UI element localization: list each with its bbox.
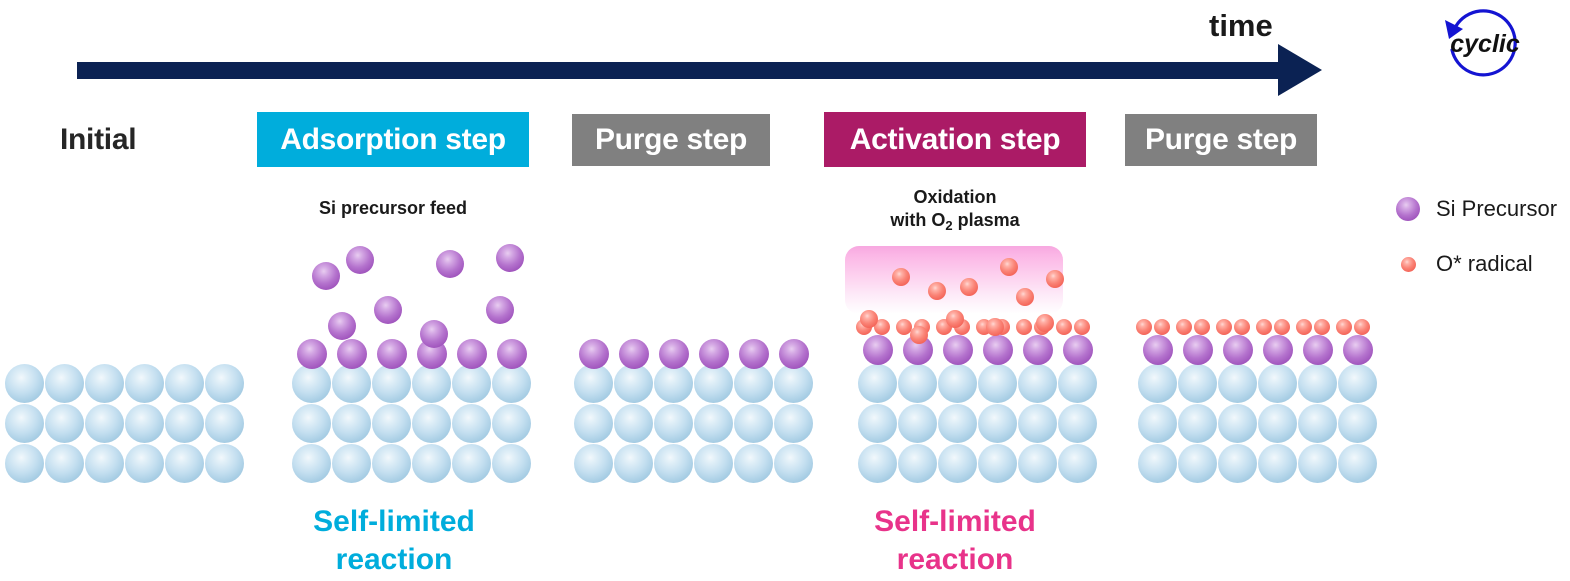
substrate-atom-purge-2 <box>1258 444 1297 483</box>
substrate-atom-purge-1 <box>654 404 693 443</box>
substrate-atom-purge-1 <box>574 364 613 403</box>
surface-radical-purge-2 <box>1296 319 1312 335</box>
adsorbed-precursor-activation <box>1023 335 1053 365</box>
substrate-atom-adsorption <box>492 404 531 443</box>
caption-oxidation-line1: Oxidation <box>913 187 996 207</box>
floating-precursor <box>436 250 464 278</box>
floating-radical <box>1036 314 1054 332</box>
substrate-atom-adsorption <box>452 444 491 483</box>
substrate-atom-activation <box>898 364 937 403</box>
legend-label-o-radical: O* radical <box>1436 251 1533 277</box>
substrate-atom-purge-2 <box>1138 444 1177 483</box>
substrate-atom-adsorption <box>372 404 411 443</box>
substrate-atom-initial <box>125 444 164 483</box>
floating-precursor <box>496 244 524 272</box>
substrate-atom-activation <box>1058 364 1097 403</box>
surface-radical-purge-2 <box>1176 319 1192 335</box>
surface-radical-purge-2 <box>1154 319 1170 335</box>
substrate-atom-purge-2 <box>1178 364 1217 403</box>
adsorbed-precursor-purge-2 <box>1343 335 1373 365</box>
step-label-initial: Initial <box>60 114 230 166</box>
surface-radical-activation <box>1056 319 1072 335</box>
floating-radical <box>1046 270 1064 288</box>
surface-radical-purge-2 <box>1354 319 1370 335</box>
substrate-atom-adsorption <box>452 364 491 403</box>
substrate-atom-adsorption <box>332 444 371 483</box>
substrate-atom-purge-2 <box>1178 444 1217 483</box>
substrate-atom-purge-1 <box>574 444 613 483</box>
substrate-atom-purge-1 <box>694 364 733 403</box>
substrate-atom-purge-2 <box>1298 364 1337 403</box>
substrate-atom-activation <box>978 404 1017 443</box>
substrate-atom-activation <box>858 364 897 403</box>
time-arrow-head-icon <box>1278 44 1322 96</box>
adsorbed-precursor-adsorption <box>497 339 527 369</box>
o-radical-swatch-icon <box>1401 257 1416 272</box>
cyclic-label: cyclic <box>1446 30 1524 59</box>
adsorbed-precursor-activation <box>943 335 973 365</box>
substrate-atom-adsorption <box>372 364 411 403</box>
floating-radical <box>960 278 978 296</box>
legend-item-si-precursor: Si Precursor <box>1396 196 1557 222</box>
legend-label-si-precursor: Si Precursor <box>1436 196 1557 222</box>
reaction-caption-activation-line2: reaction <box>897 543 1014 576</box>
substrate-atom-activation <box>938 404 977 443</box>
substrate-atom-purge-2 <box>1218 444 1257 483</box>
substrate-atom-purge-1 <box>654 444 693 483</box>
reaction-caption-adsorption: Self-limited reaction <box>258 503 530 578</box>
substrate-atom-purge-2 <box>1298 404 1337 443</box>
substrate-atom-activation <box>858 404 897 443</box>
substrate-atom-activation <box>1058 444 1097 483</box>
step-label-activation: Activation step <box>824 112 1086 167</box>
adsorbed-precursor-purge-1 <box>579 339 609 369</box>
surface-radical-activation <box>1074 319 1090 335</box>
substrate-atom-purge-1 <box>614 404 653 443</box>
adsorbed-precursor-purge-2 <box>1223 335 1253 365</box>
adsorbed-precursor-purge-2 <box>1143 335 1173 365</box>
substrate-atom-purge-2 <box>1138 404 1177 443</box>
caption-oxidation-line2-suffix: plasma <box>953 210 1020 230</box>
floating-radical <box>928 282 946 300</box>
substrate-atom-purge-2 <box>1338 404 1377 443</box>
floating-precursor <box>312 262 340 290</box>
floating-precursor <box>374 296 402 324</box>
substrate-atom-adsorption <box>292 444 331 483</box>
substrate-atom-adsorption <box>412 364 451 403</box>
substrate-atom-adsorption <box>492 364 531 403</box>
substrate-atom-purge-2 <box>1258 364 1297 403</box>
adsorbed-precursor-purge-1 <box>659 339 689 369</box>
substrate-atom-purge-1 <box>734 364 773 403</box>
step-label-purge-2: Purge step <box>1125 114 1317 166</box>
substrate-atom-activation <box>938 444 977 483</box>
substrate-atom-activation <box>978 444 1017 483</box>
substrate-atom-purge-1 <box>574 404 613 443</box>
floating-radical <box>860 310 878 328</box>
floating-precursor <box>328 312 356 340</box>
substrate-atom-initial <box>205 404 244 443</box>
substrate-atom-purge-2 <box>1138 364 1177 403</box>
substrate-atom-purge-1 <box>614 444 653 483</box>
floating-radical <box>892 268 910 286</box>
floating-precursor <box>420 320 448 348</box>
cyclic-badge: cyclic <box>1432 6 1524 90</box>
si-precursor-swatch-icon <box>1396 197 1420 221</box>
substrate-atom-activation <box>978 364 1017 403</box>
reaction-caption-activation: Self-limited reaction <box>823 503 1087 578</box>
substrate-atom-initial <box>85 364 124 403</box>
substrate-atom-adsorption <box>492 444 531 483</box>
substrate-atom-purge-1 <box>654 364 693 403</box>
substrate-atom-initial <box>45 364 84 403</box>
substrate-atom-initial <box>45 444 84 483</box>
floating-radical <box>946 310 964 328</box>
substrate-atom-initial <box>5 404 44 443</box>
legend-item-o-radical: O* radical <box>1401 251 1533 277</box>
surface-radical-purge-2 <box>1216 319 1232 335</box>
substrate-atom-initial <box>125 364 164 403</box>
floating-radical <box>1016 288 1034 306</box>
adsorbed-precursor-purge-2 <box>1263 335 1293 365</box>
substrate-atom-initial <box>125 404 164 443</box>
substrate-atom-purge-1 <box>774 364 813 403</box>
adsorbed-precursor-activation <box>1063 335 1093 365</box>
substrate-atom-purge-2 <box>1338 364 1377 403</box>
substrate-atom-purge-1 <box>734 444 773 483</box>
adsorbed-precursor-purge-2 <box>1303 335 1333 365</box>
reaction-caption-activation-line1: Self-limited <box>874 505 1036 538</box>
caption-oxidation-o2-plasma: Oxidation with O2 plasma <box>823 186 1087 232</box>
floating-radical <box>986 318 1004 336</box>
substrate-atom-activation <box>898 444 937 483</box>
surface-radical-purge-2 <box>1194 319 1210 335</box>
substrate-atom-initial <box>205 364 244 403</box>
reaction-caption-adsorption-line2: reaction <box>336 543 453 576</box>
substrate-atom-purge-2 <box>1338 444 1377 483</box>
substrate-atom-adsorption <box>332 364 371 403</box>
substrate-atom-activation <box>1018 444 1057 483</box>
adsorbed-precursor-purge-1 <box>739 339 769 369</box>
adsorbed-precursor-purge-1 <box>619 339 649 369</box>
surface-radical-purge-2 <box>1234 319 1250 335</box>
floating-radical <box>1000 258 1018 276</box>
surface-radical-purge-2 <box>1336 319 1352 335</box>
substrate-atom-initial <box>5 364 44 403</box>
substrate-atom-adsorption <box>452 404 491 443</box>
adsorbed-precursor-purge-1 <box>699 339 729 369</box>
substrate-atom-initial <box>165 364 204 403</box>
adsorbed-precursor-activation <box>983 335 1013 365</box>
substrate-atom-initial <box>165 444 204 483</box>
adsorbed-precursor-activation <box>863 335 893 365</box>
caption-oxidation-line2-prefix: with O <box>890 210 945 230</box>
adsorbed-precursor-adsorption <box>337 339 367 369</box>
surface-radical-activation <box>1016 319 1032 335</box>
substrate-atom-purge-1 <box>734 404 773 443</box>
caption-oxidation-subscript: 2 <box>945 218 952 233</box>
substrate-atom-activation <box>898 404 937 443</box>
caption-si-precursor-feed: Si precursor feed <box>256 197 530 220</box>
substrate-atom-purge-2 <box>1258 404 1297 443</box>
surface-radical-purge-2 <box>1274 319 1290 335</box>
substrate-atom-purge-2 <box>1178 404 1217 443</box>
substrate-atom-adsorption <box>292 404 331 443</box>
substrate-atom-purge-1 <box>694 404 733 443</box>
substrate-atom-adsorption <box>292 364 331 403</box>
step-label-purge-1: Purge step <box>572 114 770 166</box>
substrate-atom-purge-1 <box>774 444 813 483</box>
adsorbed-precursor-adsorption <box>457 339 487 369</box>
adsorbed-precursor-adsorption <box>377 339 407 369</box>
substrate-atom-purge-1 <box>614 364 653 403</box>
substrate-atom-adsorption <box>412 404 451 443</box>
substrate-atom-activation <box>1018 364 1057 403</box>
substrate-atom-adsorption <box>372 444 411 483</box>
substrate-atom-activation <box>938 364 977 403</box>
substrate-atom-activation <box>1058 404 1097 443</box>
substrate-atom-purge-2 <box>1218 364 1257 403</box>
time-arrow-shaft <box>77 62 1295 79</box>
substrate-atom-initial <box>45 404 84 443</box>
substrate-atom-initial <box>85 444 124 483</box>
floating-precursor <box>486 296 514 324</box>
substrate-atom-purge-2 <box>1218 404 1257 443</box>
time-axis-label: time <box>1209 8 1273 44</box>
diagram-canvas: time cyclic Initial Adsorption step Purg… <box>0 0 1570 581</box>
substrate-atom-initial <box>85 404 124 443</box>
substrate-atom-initial <box>165 404 204 443</box>
substrate-atom-purge-1 <box>694 444 733 483</box>
substrate-atom-adsorption <box>412 444 451 483</box>
substrate-atom-purge-1 <box>774 404 813 443</box>
adsorbed-precursor-purge-1 <box>779 339 809 369</box>
surface-radical-purge-2 <box>1136 319 1152 335</box>
surface-radical-purge-2 <box>1256 319 1272 335</box>
adsorbed-precursor-purge-2 <box>1183 335 1213 365</box>
substrate-atom-initial <box>205 444 244 483</box>
adsorbed-precursor-adsorption <box>297 339 327 369</box>
substrate-atom-purge-2 <box>1298 444 1337 483</box>
floating-precursor <box>346 246 374 274</box>
substrate-atom-initial <box>5 444 44 483</box>
substrate-atom-activation <box>1018 404 1057 443</box>
reaction-caption-adsorption-line1: Self-limited <box>313 505 475 538</box>
substrate-atom-adsorption <box>332 404 371 443</box>
substrate-atom-activation <box>858 444 897 483</box>
floating-radical <box>910 326 928 344</box>
surface-radical-purge-2 <box>1314 319 1330 335</box>
step-label-adsorption: Adsorption step <box>257 112 529 167</box>
